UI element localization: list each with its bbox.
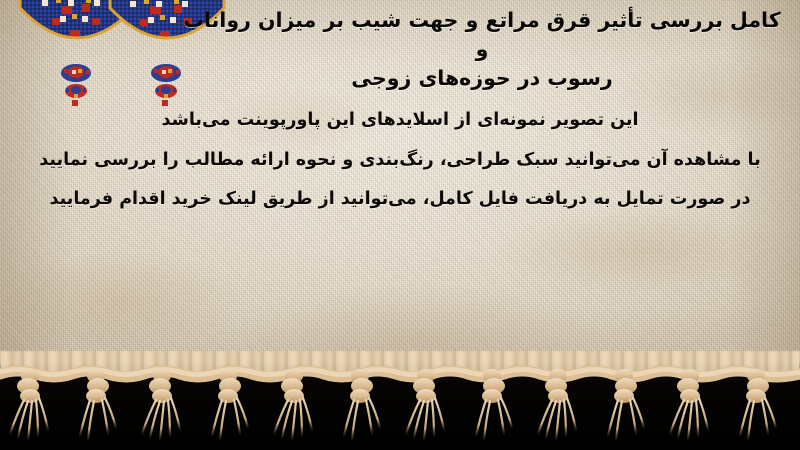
slide-title-line-1: کامل بررسی تأثیر قرق مراتع و جهت شیب بر … [182, 6, 782, 64]
slide-body: این تصویر نمونه‌ای از اسلایدهای این پاور… [8, 112, 792, 209]
presentation-slide: کامل بررسی تأثیر قرق مراتع و جهت شیب بر … [0, 0, 800, 450]
carpet-fringe-tassels [0, 360, 800, 450]
slide-title-line-2: رسوب در حوزه‌های زوجی [182, 64, 782, 93]
body-line-purchase-prompt: در صورت تمایل به دریافت فایل کامل، می‌تو… [8, 191, 792, 209]
body-line-sample-notice: این تصویر نمونه‌ای از اسلایدهای این پاور… [8, 112, 792, 130]
body-line-design-review: با مشاهده آن می‌توانید سبک طراحی، رنگ‌بن… [8, 152, 792, 170]
slide-title: کامل بررسی تأثیر قرق مراتع و جهت شیب بر … [182, 6, 782, 93]
